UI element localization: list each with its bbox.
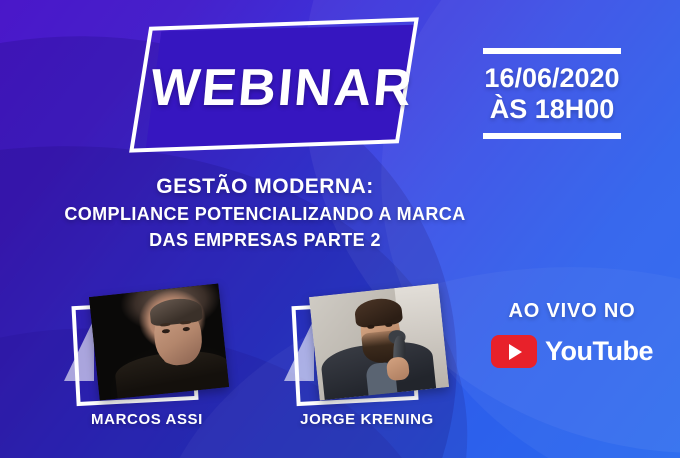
webinar-poster: WEBINAR 16/06/2020 ÀS 18H00 GESTÃO MODER… bbox=[0, 0, 680, 458]
youtube-logo[interactable]: YouTube bbox=[486, 335, 658, 368]
play-triangle-icon bbox=[509, 344, 522, 360]
date-rule-top bbox=[483, 48, 621, 54]
speaker-1-name: MARCOS ASSI bbox=[62, 411, 232, 428]
event-title-line-2: COMPLIANCE POTENCIALIZANDO A MARCA bbox=[40, 201, 490, 227]
speaker-2-name: JORGE KRENING bbox=[282, 411, 452, 428]
event-date: 16/06/2020 bbox=[472, 63, 632, 94]
speaker-1-photo bbox=[89, 283, 229, 400]
youtube-play-icon[interactable] bbox=[491, 335, 537, 368]
date-rule-bottom bbox=[483, 133, 621, 139]
live-label: AO VIVO NO bbox=[486, 300, 658, 323]
speaker-card-2: JORGE KRENING bbox=[282, 283, 452, 443]
webinar-badge: WEBINAR bbox=[132, 18, 432, 158]
event-title-line-1: GESTÃO MODERNA: bbox=[40, 173, 490, 201]
event-title-line-3: DAS EMPRESAS PARTE 2 bbox=[40, 227, 490, 253]
broadcast-block: AO VIVO NO YouTube bbox=[486, 300, 658, 368]
date-time-block: 16/06/2020 ÀS 18H00 bbox=[472, 48, 632, 139]
event-title: GESTÃO MODERNA: COMPLIANCE POTENCIALIZAN… bbox=[40, 173, 490, 254]
speaker-2-photo bbox=[309, 283, 449, 400]
youtube-wordmark: YouTube bbox=[545, 336, 653, 367]
event-time: ÀS 18H00 bbox=[472, 94, 632, 125]
speaker-card-1: MARCOS ASSI bbox=[62, 283, 232, 443]
webinar-badge-label: WEBINAR bbox=[126, 18, 438, 158]
